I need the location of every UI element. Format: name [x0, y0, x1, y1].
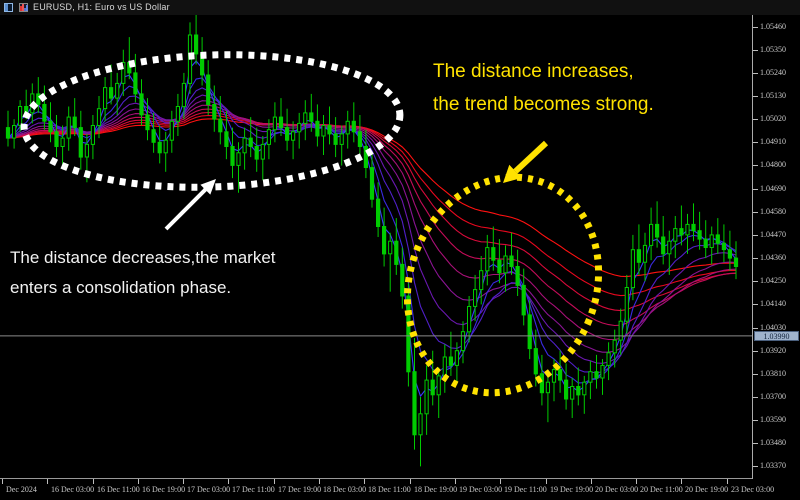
time-tick: [183, 479, 184, 484]
time-tick: [47, 479, 48, 484]
current-price-tag: 1.03990: [754, 331, 799, 341]
candle-body: [504, 256, 507, 273]
candle-body: [401, 264, 404, 296]
price-label: 1.04360: [760, 254, 786, 262]
candle-body: [85, 144, 88, 157]
window-title: EURUSD, H1: Euro vs US Dollar: [33, 1, 170, 14]
price-label: 1.03590: [760, 416, 786, 424]
candle-body: [13, 126, 16, 139]
price-label: 1.04140: [760, 300, 786, 308]
candle-body: [231, 147, 234, 166]
price-tick: [753, 397, 758, 398]
price-tick: [753, 212, 758, 213]
price-label: 1.04800: [760, 161, 786, 169]
candle-body: [279, 117, 282, 128]
candle-body: [728, 250, 731, 258]
candle-body: [704, 239, 707, 247]
candle-body: [61, 138, 64, 146]
price-tick: [753, 73, 758, 74]
time-label: 17 Dec 11:00: [232, 485, 275, 494]
candle-body: [680, 229, 683, 235]
ma-line-2: [8, 78, 736, 383]
candle-body: [437, 376, 440, 395]
time-label: Dec 2024: [6, 485, 37, 494]
candle-body: [158, 142, 161, 153]
price-label: 1.03370: [760, 462, 786, 470]
time-label: 20 Dec 03:00: [595, 485, 638, 494]
price-tick: [753, 420, 758, 421]
time-tick: [681, 479, 682, 484]
window-title-bar: EURUSD, H1: Euro vs US Dollar: [0, 0, 800, 15]
time-tick: [410, 479, 411, 484]
candle-body: [19, 107, 22, 126]
candle-body: [607, 353, 610, 366]
candle-body: [431, 380, 434, 395]
candle-body: [601, 365, 604, 378]
candle-body: [286, 128, 289, 141]
white-dotted-ellipse: [22, 48, 402, 193]
candle-body: [152, 130, 155, 143]
time-tick: [364, 479, 365, 484]
price-tick: [753, 258, 758, 259]
candle-body: [377, 199, 380, 226]
candle-body: [267, 130, 270, 145]
candle-body: [710, 235, 713, 248]
time-tick: [591, 479, 592, 484]
candle-body: [249, 138, 252, 146]
candle-body: [389, 241, 392, 254]
candle-body: [425, 380, 428, 414]
yellow-arrow-shaft: [515, 143, 546, 171]
time-tick: [228, 479, 229, 484]
candle-body: [340, 134, 343, 145]
time-tick: [274, 479, 275, 484]
price-label: 1.04690: [760, 185, 786, 193]
price-label: 1.03480: [760, 439, 786, 447]
time-label: 18 Dec 19:00: [414, 485, 457, 494]
price-label: 1.03700: [760, 393, 786, 401]
time-label: 17 Dec 03:00: [187, 485, 230, 494]
mt4-chart-window: EURUSD, H1: Euro vs US Dollar The distan…: [0, 0, 800, 500]
time-label: 19 Dec 03:00: [459, 485, 502, 494]
candle-body: [534, 349, 537, 374]
candle-body: [577, 387, 580, 395]
candle-body: [540, 374, 543, 393]
candle-body: [522, 285, 525, 315]
chart-icon: [19, 3, 28, 12]
candle-body: [91, 126, 94, 145]
price-label: 1.05130: [760, 92, 786, 100]
white-arrow-shaft: [166, 190, 205, 229]
candle-body: [559, 370, 562, 381]
time-label: 19 Dec 19:00: [550, 485, 593, 494]
white-arrow: [166, 179, 216, 229]
candle-body: [407, 296, 410, 372]
candle-body: [170, 121, 173, 140]
candle-body: [468, 307, 471, 332]
price-tick: [753, 50, 758, 51]
price-label: 1.05240: [760, 69, 786, 77]
price-tick: [753, 96, 758, 97]
candle-body: [219, 119, 222, 132]
candle-body: [116, 83, 119, 98]
price-label: 1.04250: [760, 277, 786, 285]
time-label: 16 Dec 11:00: [97, 485, 140, 494]
candle-body: [565, 380, 568, 399]
time-tick: [500, 479, 501, 484]
candle-body: [516, 267, 519, 286]
price-label: 1.04030: [760, 324, 786, 332]
time-label: 17 Dec 19:00: [278, 485, 321, 494]
candle-body: [613, 340, 616, 353]
candle-body: [419, 414, 422, 435]
time-label: 16 Dec 19:00: [142, 485, 185, 494]
price-label: 1.04910: [760, 138, 786, 146]
candle-body: [734, 258, 737, 266]
price-label: 1.03810: [760, 370, 786, 378]
candle-body: [674, 229, 677, 242]
candle-body: [73, 117, 76, 128]
candle-body: [583, 382, 586, 395]
candle-body: [643, 245, 646, 262]
candle-body: [358, 132, 361, 147]
candle-body: [49, 121, 52, 132]
time-tick: [455, 479, 456, 484]
candle-body: [546, 382, 549, 393]
candle-body: [237, 153, 240, 166]
price-tick: [753, 27, 758, 28]
price-tick: [753, 189, 758, 190]
candle-body: [498, 260, 501, 273]
candle-body: [298, 123, 301, 131]
price-tick: [753, 351, 758, 352]
candle-body: [656, 224, 659, 237]
candle-body: [43, 104, 46, 121]
candle-body: [595, 372, 598, 378]
candle-body: [55, 132, 58, 147]
candle-body: [207, 75, 210, 105]
candle-body: [449, 357, 452, 365]
candle-body: [383, 227, 386, 254]
candle-body: [619, 321, 622, 340]
candle-body: [637, 250, 640, 263]
candle-body: [134, 73, 137, 94]
time-label: 18 Dec 03:00: [323, 485, 366, 494]
time-label: 23 Dec 03:00: [731, 485, 774, 494]
candle-body: [316, 121, 319, 136]
candle-body: [395, 241, 398, 264]
candle-body: [625, 288, 628, 322]
candle-body: [37, 94, 40, 105]
candle-body: [110, 88, 113, 99]
time-axis[interactable]: Dec 202416 Dec 03:0016 Dec 11:0016 Dec 1…: [0, 479, 800, 500]
time-label: 19 Dec 11:00: [504, 485, 547, 494]
price-tick: [753, 374, 758, 375]
candle-body: [292, 132, 295, 140]
time-label: 20 Dec 11:00: [640, 485, 683, 494]
candle-body: [261, 144, 264, 159]
price-label: 1.05460: [760, 23, 786, 31]
candle-body: [79, 128, 82, 158]
candle-body: [243, 138, 246, 153]
candle-body: [552, 370, 555, 383]
candle-body: [213, 104, 216, 119]
candle-body: [346, 121, 349, 134]
candle-body: [413, 372, 416, 435]
candle-body: [225, 132, 228, 147]
candle-body: [140, 94, 143, 115]
price-tick: [753, 281, 758, 282]
price-tick: [753, 235, 758, 236]
candle-body: [716, 235, 719, 243]
candle-body: [528, 315, 531, 349]
candle-body: [510, 256, 513, 267]
candle-body: [370, 168, 373, 200]
time-tick: [93, 479, 94, 484]
price-label: 1.03920: [760, 347, 786, 355]
candle-body: [273, 117, 276, 130]
price-tick: [753, 304, 758, 305]
candle-body: [571, 387, 574, 400]
candle-body: [304, 113, 307, 124]
candle-body: [182, 83, 185, 106]
candle-body: [6, 128, 9, 139]
candle-body: [97, 109, 100, 126]
candle-body: [650, 224, 653, 245]
price-tick: [753, 119, 758, 120]
price-axis[interactable]: 1.03990 1.054601.053501.052401.051301.05…: [752, 15, 800, 493]
candle-body: [486, 248, 489, 271]
time-label: 20 Dec 19:00: [685, 485, 728, 494]
time-tick: [546, 479, 547, 484]
candle-body: [67, 117, 70, 138]
candle-body: [255, 147, 258, 160]
candle-body: [631, 250, 634, 288]
time-tick: [2, 479, 3, 484]
candle-body: [164, 140, 167, 153]
candle-body: [310, 113, 313, 121]
candle-body: [195, 35, 198, 54]
candle-body: [662, 237, 665, 254]
candle-body: [352, 121, 355, 132]
time-tick: [727, 479, 728, 484]
price-tick: [753, 165, 758, 166]
candle-body: [722, 243, 725, 249]
candle-body: [104, 88, 107, 109]
price-chart-svg: [0, 15, 752, 478]
time-tick: [319, 479, 320, 484]
candle-body: [334, 134, 337, 145]
candle-body: [328, 126, 331, 134]
candle-body: [455, 351, 458, 366]
price-label: 1.04470: [760, 231, 786, 239]
candle-body: [176, 107, 179, 122]
price-tick: [753, 142, 758, 143]
chart-plot-area[interactable]: [0, 15, 752, 478]
window-icon: [4, 3, 13, 12]
candle-body: [480, 271, 483, 290]
candle-body: [698, 231, 701, 239]
price-tick: [753, 443, 758, 444]
time-label: 16 Dec 03:00: [51, 485, 94, 494]
yellow-arrow: [503, 143, 546, 183]
candle-body: [474, 290, 477, 307]
price-tick: [753, 466, 758, 467]
price-label: 1.05350: [760, 46, 786, 54]
candle-body: [461, 332, 464, 351]
candle-body: [692, 224, 695, 230]
price-label: 1.04580: [760, 208, 786, 216]
time-label: 18 Dec 11:00: [368, 485, 411, 494]
time-tick: [636, 479, 637, 484]
candle-body: [492, 248, 495, 261]
candle-body: [686, 224, 689, 235]
price-tick: [753, 328, 758, 329]
price-label: 1.05020: [760, 115, 786, 123]
candle-body: [322, 126, 325, 137]
candle-body: [443, 357, 446, 376]
candle-body: [146, 115, 149, 130]
candle-body: [668, 241, 671, 254]
time-tick: [138, 479, 139, 484]
candle-body: [589, 372, 592, 383]
candlestick-group: [6, 15, 737, 466]
